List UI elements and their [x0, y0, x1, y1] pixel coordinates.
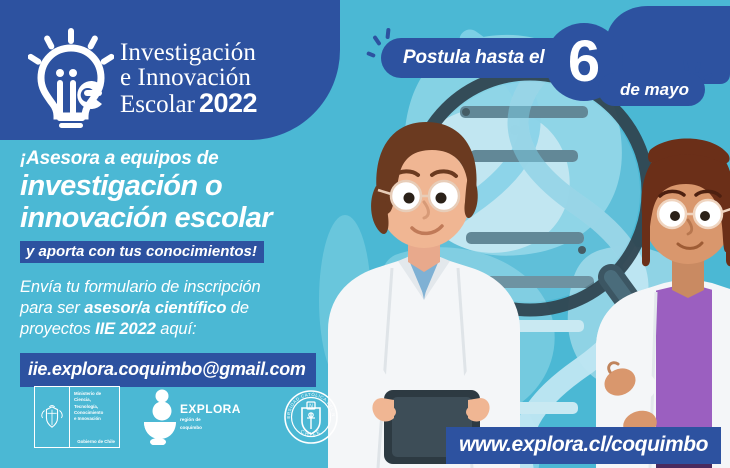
ministry-logo: Ministerio de Ciencia, Tecnología, Conoc…: [34, 386, 120, 448]
para-bold-1: asesor/a científico: [84, 299, 226, 317]
copy-line-1: ¡Asesora a equipos de: [20, 148, 340, 170]
copy-headline-2: innovación escolar: [20, 203, 340, 234]
copy-paragraph: Envía tu formulario de inscripción para …: [20, 277, 340, 340]
chile-coat-of-arms-icon: [35, 387, 70, 447]
contact-email[interactable]: iie.explora.coquimbo@gmail.com: [20, 353, 316, 387]
copy-highlight: y aporta con tus conocimientos!: [20, 241, 264, 263]
para-seg-5: aquí:: [156, 320, 197, 338]
logo-line-2: e Innovación: [120, 65, 257, 90]
logo-line-3: Escolar: [120, 92, 195, 117]
sparkle-right-icon: [676, 60, 710, 100]
poster-canvas: Investigación e Innovación Escolar 2022 …: [0, 0, 730, 468]
ministry-government: Gobierno de Chile: [77, 439, 115, 444]
website-url[interactable]: www.explora.cl/coquimbo: [446, 427, 721, 464]
ministry-line-5: e Innovación: [74, 416, 116, 422]
copy-headline-1: investigación o: [20, 171, 340, 202]
explora-logo: EXPLORA región de coquimbo: [142, 389, 241, 445]
svg-text:N: N: [309, 404, 313, 410]
para-seg-2: para ser: [20, 299, 84, 317]
explora-sub-1: región de: [180, 417, 241, 424]
para-seg-4: proyectos: [20, 320, 95, 338]
para-bold-2: IIE 2022: [95, 320, 156, 338]
logo-line-1: Investigación: [120, 40, 257, 65]
logo-year: 2022: [199, 90, 257, 117]
ucn-seal-logo: UNIVERSIDAD CATÓLICA DEL NORTE CHILE N: [283, 389, 339, 445]
iie-logo: Investigación e Innovación Escolar 2022: [28, 28, 257, 128]
para-seg-1: Envía tu formulario de inscripción: [20, 278, 261, 296]
explora-figure-icon: [142, 389, 176, 445]
para-seg-3: de: [226, 299, 249, 317]
main-copy: ¡Asesora a equipos de investigación o in…: [20, 148, 340, 387]
explora-sub-2: coquimbo: [180, 425, 241, 432]
explora-name: EXPLORA: [180, 402, 241, 416]
lightbulb-icon: [28, 28, 114, 128]
footer-logos: Ministerio de Ciencia, Tecnología, Conoc…: [34, 386, 339, 448]
